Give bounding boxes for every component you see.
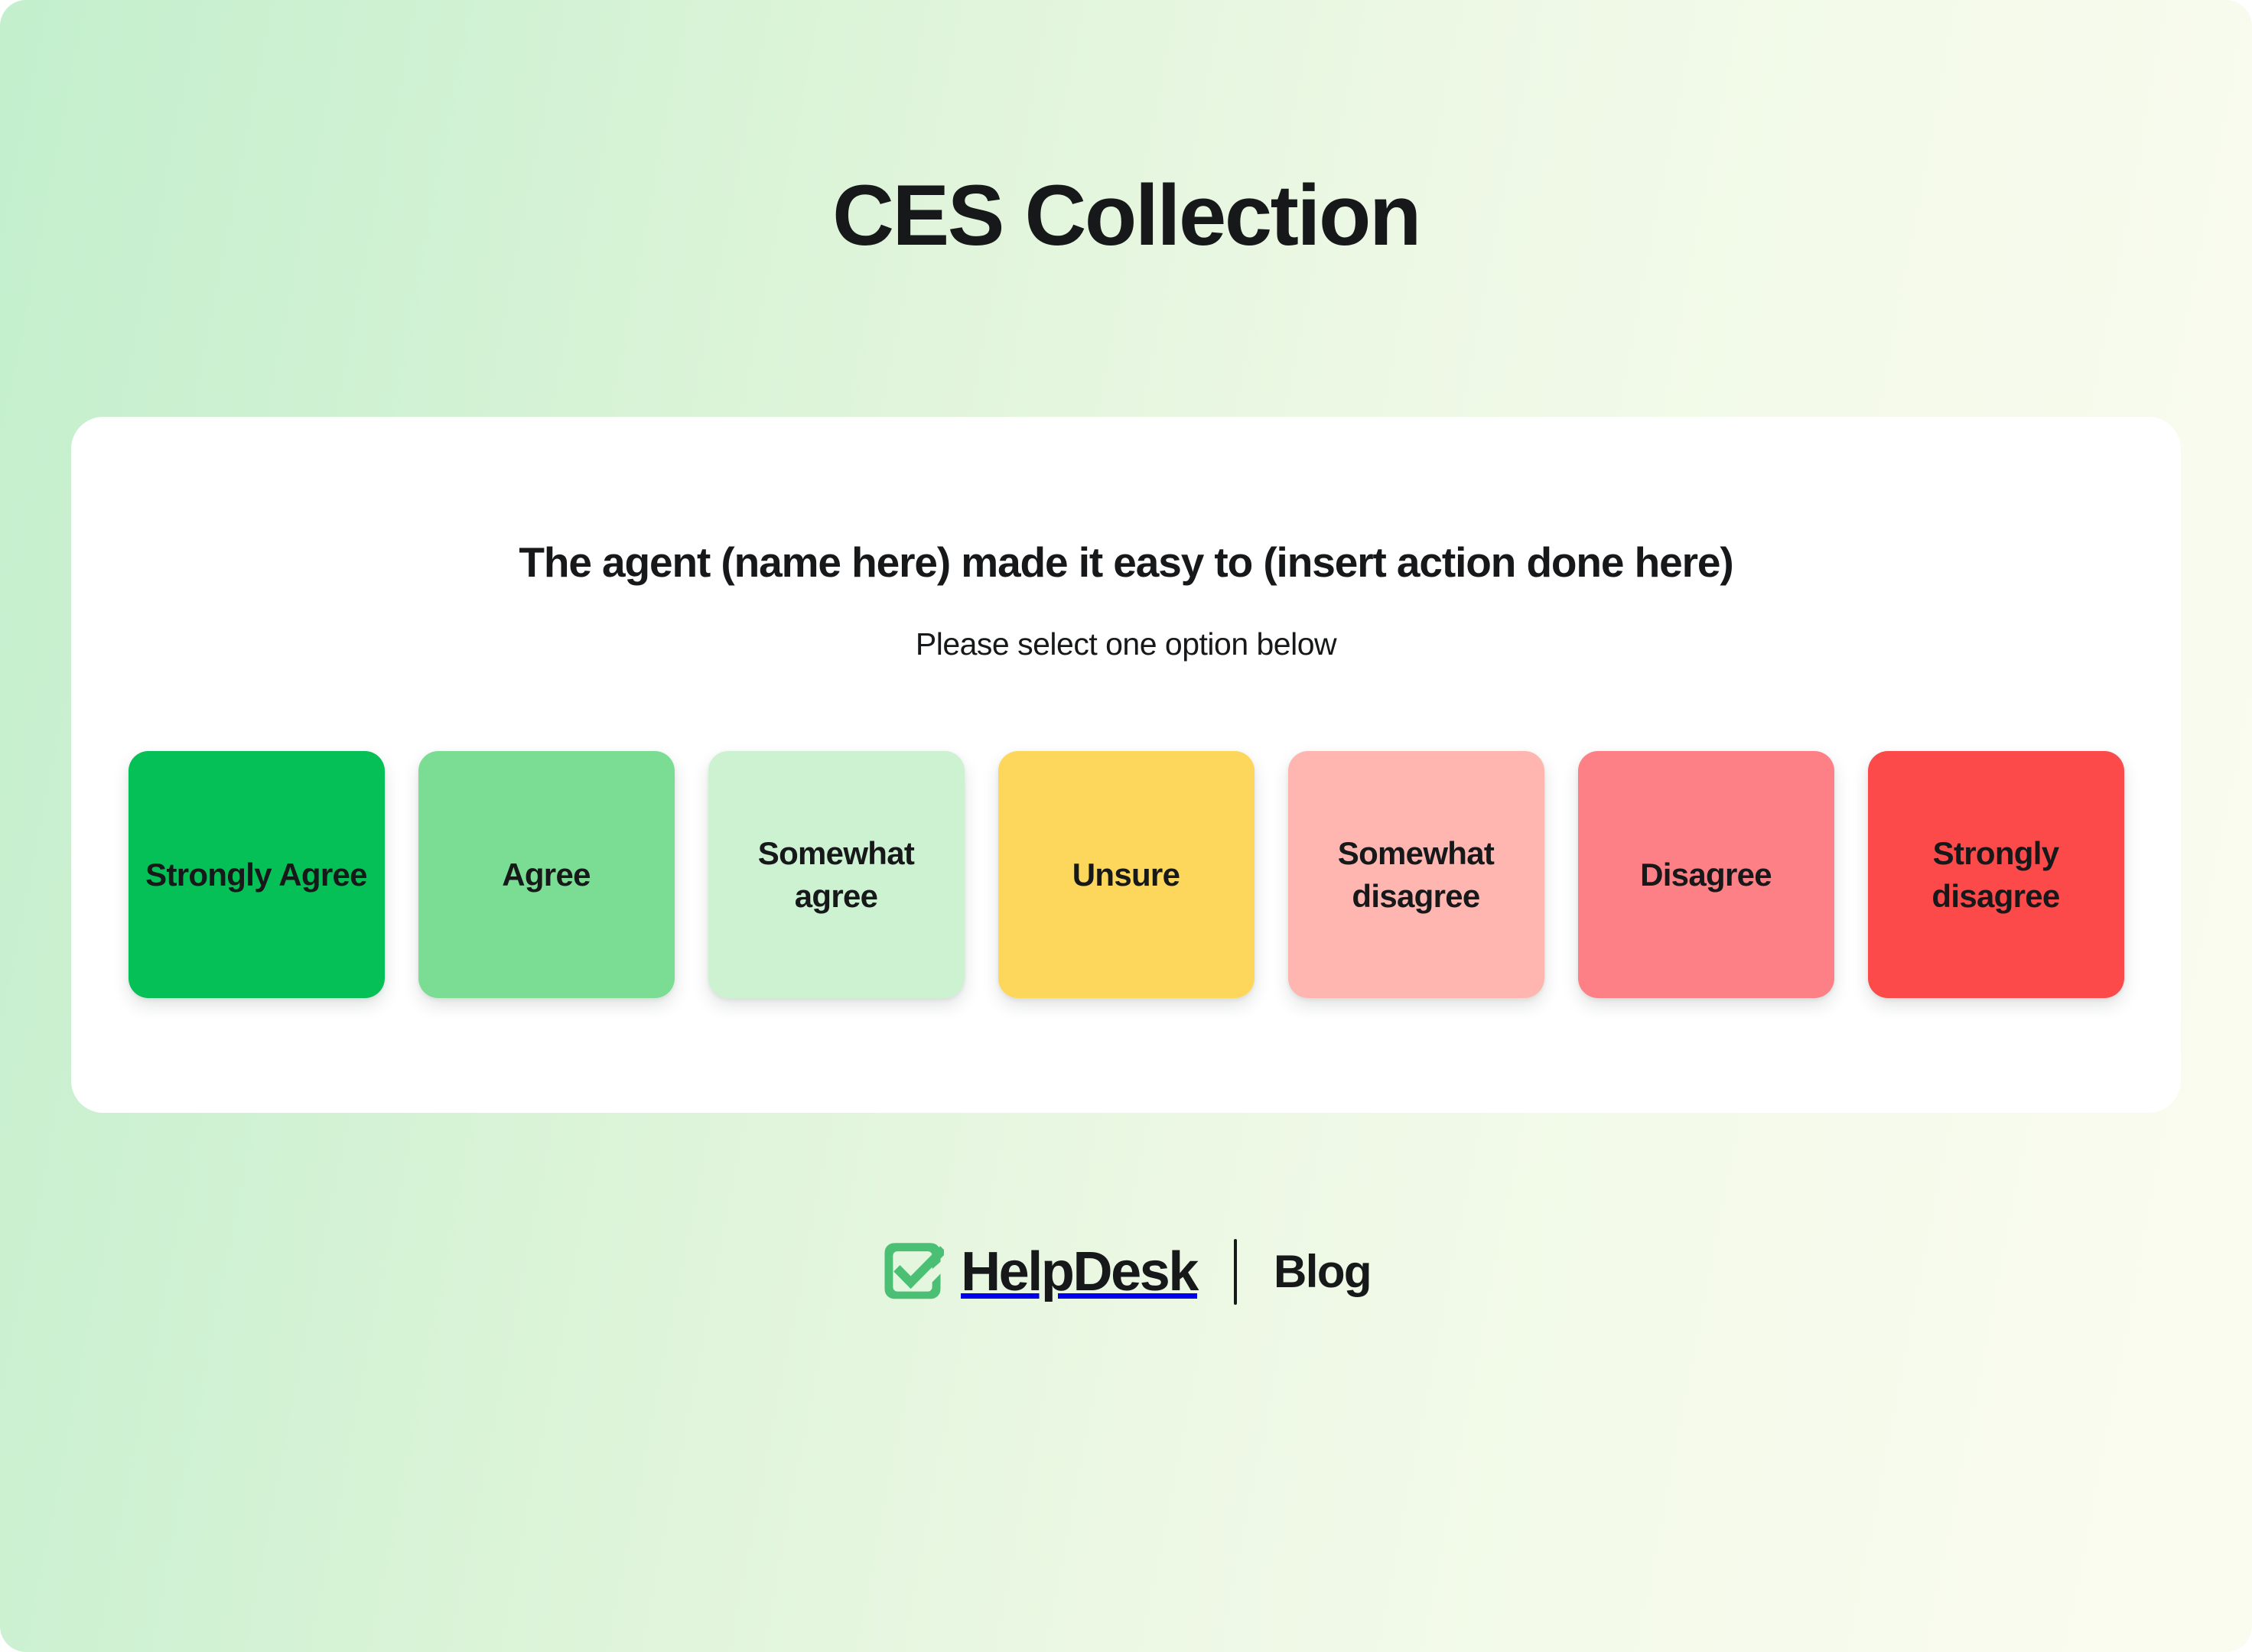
page-title: CES Collection bbox=[0, 170, 2252, 262]
option-somewhat-agree[interactable]: Somewhat agree bbox=[708, 751, 965, 998]
survey-question: The agent (name here) made it easy to (i… bbox=[71, 538, 2181, 587]
brand-name: HelpDesk bbox=[961, 1244, 1197, 1299]
option-agree[interactable]: Agree bbox=[418, 751, 675, 998]
option-label: Unsure bbox=[1072, 854, 1180, 896]
survey-options-row: Strongly Agree Agree Somewhat agree Unsu… bbox=[71, 751, 2181, 998]
option-label: Strongly Agree bbox=[145, 854, 367, 896]
survey-page: CES Collection The agent (name here) mad… bbox=[0, 0, 2252, 1652]
footer-blog-link[interactable]: Blog bbox=[1274, 1249, 1371, 1295]
option-disagree[interactable]: Disagree bbox=[1578, 751, 1834, 998]
option-unsure[interactable]: Unsure bbox=[998, 751, 1255, 998]
option-label: Somewhat disagree bbox=[1305, 832, 1528, 917]
option-somewhat-disagree[interactable]: Somewhat disagree bbox=[1288, 751, 1544, 998]
footer-divider bbox=[1234, 1239, 1237, 1305]
helpdesk-brand-link[interactable]: HelpDesk bbox=[881, 1241, 1197, 1303]
survey-subtitle: Please select one option below bbox=[71, 626, 2181, 662]
option-strongly-disagree[interactable]: Strongly disagree bbox=[1868, 751, 2124, 998]
option-strongly-agree[interactable]: Strongly Agree bbox=[129, 751, 385, 998]
option-label: Strongly disagree bbox=[1885, 832, 2107, 917]
option-label: Somewhat agree bbox=[725, 832, 948, 917]
option-label: Disagree bbox=[1640, 854, 1772, 896]
footer: HelpDesk Blog bbox=[0, 1239, 2252, 1305]
option-label: Agree bbox=[502, 854, 591, 896]
survey-card: The agent (name here) made it easy to (i… bbox=[71, 417, 2181, 1113]
helpdesk-checkbox-logo-icon bbox=[881, 1241, 944, 1303]
